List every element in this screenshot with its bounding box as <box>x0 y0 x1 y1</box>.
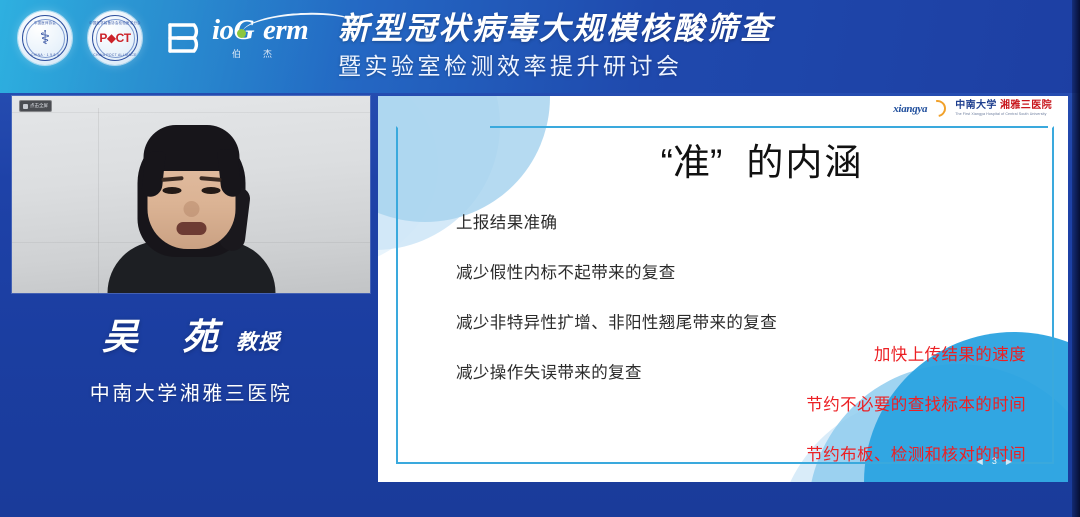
speaker-given-name: 苑 <box>182 318 222 358</box>
biogerm-wordmark: ioGerm 伯杰 <box>212 16 308 60</box>
slide-page-number: 3 <box>992 456 997 466</box>
hospital-seal-icon: 中国医师协会 ⚕ CHINA · 1 9 8 3 <box>18 11 72 65</box>
hospital-brand-cn: 中南大学 湘雅三医院 <box>955 101 1052 111</box>
wall-seam <box>98 108 99 293</box>
next-slide-icon[interactable]: ▶ <box>1006 457 1012 466</box>
list-item: 减少非特异性扩增、非阳性翘尾带来的复查 <box>456 309 777 333</box>
seal-arc-bottom-text: CHINA POCT ALLIANCE <box>88 53 142 57</box>
speaker-academic-title: 教授 <box>236 331 280 354</box>
list-item: 上报结果准确 <box>456 209 777 233</box>
xiangya-brand-lockup: xiangya 中南大学 湘雅三医院 The First Xiangya Hos… <box>893 100 1052 117</box>
presentation-slide[interactable]: xiangya 中南大学 湘雅三医院 The First Xiangya Hos… <box>378 96 1068 482</box>
speaker-caption: 吴 苑 教授 中南大学湘雅三医院 <box>12 318 370 406</box>
xiangya-swirl-icon <box>926 97 950 121</box>
list-item: 减少假性内标不起带来的复查 <box>456 259 777 283</box>
slide-title: “准”的内涵 <box>378 132 1068 186</box>
speaker-surname: 吴 <box>102 318 142 358</box>
speaker-organization: 中南大学湘雅三医院 <box>12 377 370 406</box>
prev-slide-icon[interactable]: ◀ <box>977 457 983 466</box>
speaker-video-pane[interactable]: 点击全屏 <box>12 96 370 293</box>
speaker-portrait <box>104 118 279 293</box>
list-item: 减少操作失误带来的复查 <box>456 359 777 383</box>
portrait-eye-left <box>162 187 181 194</box>
biogerm-io: io <box>212 14 234 46</box>
event-title-sub: 暨实验室检测效率提升研讨会 <box>338 52 774 81</box>
list-item: 加快上传结果的速度 <box>806 341 1026 365</box>
biogerm-mark-icon <box>164 19 208 57</box>
stage-right-edge <box>1072 0 1080 517</box>
broadcast-stage: 中国医师协会 ⚕ CHINA · 1 9 8 3 中国医学装备协会检验医学分会 … <box>0 0 1080 517</box>
sponsor-logo-group: 中国医师协会 ⚕ CHINA · 1 9 8 3 中国医学装备协会检验医学分会 … <box>18 10 308 66</box>
biogerm-logo: ioGerm 伯杰 <box>164 10 308 66</box>
hospital-brand-cn-accent: 湘雅三医院 <box>1000 100 1052 111</box>
list-item: 节约不必要的查找标本的时间 <box>806 391 1026 415</box>
slide-title-rest: 的内涵 <box>746 142 863 183</box>
xiangya-latin-logo: xiangya <box>893 100 946 117</box>
fullscreen-icon <box>23 104 28 109</box>
hospital-brand-cn-primary: 中南大学 <box>955 100 997 111</box>
video-overlay-badge[interactable]: 点击全屏 <box>19 100 52 112</box>
slide-border-top-segment <box>490 126 1048 128</box>
hospital-brand-en: The First Xiangya Hospital of Central So… <box>955 113 1052 117</box>
biogerm-green-dot-icon <box>237 29 246 38</box>
pct-seal-icon: 中国医学装备协会检验医学分会 P◆CT CHINA POCT ALLIANCE <box>88 11 142 65</box>
slide-bullet-list: 上报结果准确 减少假性内标不起带来的复查 减少非特异性扩增、非阳性翘尾带来的复查… <box>416 209 777 409</box>
wall-seam <box>12 112 370 113</box>
slide-title-quoted: “准” <box>661 142 723 183</box>
biogerm-cn-text: 伯杰 <box>212 47 308 60</box>
portrait-eye-right <box>201 187 220 194</box>
slide-pager[interactable]: ◀ 3 ▶ <box>977 456 1012 466</box>
event-title-block: 新型冠状病毒大规模核酸筛查 暨实验室检测效率提升研讨会 <box>338 11 774 80</box>
event-title-main: 新型冠状病毒大规模核酸筛查 <box>338 11 774 48</box>
event-header-banner: 中国医师协会 ⚕ CHINA · 1 9 8 3 中国医学装备协会检验医学分会 … <box>0 0 1080 93</box>
xiangya-latin-text: xiangya <box>893 103 927 115</box>
hospital-brand-text: 中南大学 湘雅三医院 The First Xiangya Hospital of… <box>955 101 1052 117</box>
speaker-name-row: 吴 苑 教授 <box>12 318 370 358</box>
seal-arc-bottom-text: CHINA · 1 9 8 3 <box>18 53 72 57</box>
video-badge-label: 点击全屏 <box>30 104 48 109</box>
portrait-mouth <box>176 222 206 235</box>
portrait-nose <box>183 201 199 217</box>
